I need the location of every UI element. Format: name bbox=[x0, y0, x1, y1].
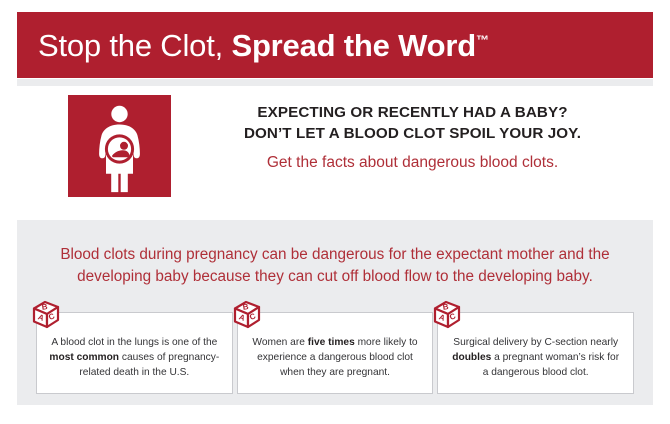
trademark-symbol: ™ bbox=[476, 32, 489, 47]
fact-text: Surgical delivery by C-section nearly do… bbox=[448, 335, 623, 380]
fact-text-pre: A blood clot in the lungs is one of the bbox=[51, 337, 217, 348]
facts-panel: Blood clots during pregnancy can be dang… bbox=[17, 220, 653, 405]
fact-box: B A C Surgical delivery by C-section nea… bbox=[437, 312, 634, 394]
headline: EXPECTING OR RECENTLY HAD A BABY? DON’T … bbox=[185, 103, 640, 144]
panel-lead-line-2: developing baby because they can cut off… bbox=[77, 268, 593, 285]
fact-text: Women are five times more likely to expe… bbox=[248, 335, 423, 380]
pregnant-woman-icon bbox=[68, 95, 171, 197]
fact-text-emphasis: most common bbox=[49, 352, 119, 363]
intro-section: EXPECTING OR RECENTLY HAD A BABY? DON’T … bbox=[0, 95, 670, 205]
abc-baby-block-icon: B A C bbox=[430, 299, 464, 331]
fact-text-pre: Women are bbox=[252, 337, 307, 348]
fact-text-post: a pregnant woman’s risk for a dangerous … bbox=[483, 352, 619, 378]
banner-title: Stop the Clot, Spread the Word™ bbox=[38, 30, 489, 61]
banner-title-bold: Spread the Word bbox=[231, 28, 475, 63]
panel-lead-line-1: Blood clots during pregnancy can be dang… bbox=[60, 246, 609, 263]
headline-line-1: EXPECTING OR RECENTLY HAD A BABY? bbox=[185, 103, 640, 124]
fact-box: B A C A blood clot in the lungs is one o… bbox=[36, 312, 233, 394]
fact-text-emphasis: five times bbox=[308, 337, 355, 348]
headline-line-2: DON’T LET A BLOOD CLOT SPOIL YOUR JOY. bbox=[185, 124, 640, 145]
banner-title-light: Stop the Clot, bbox=[38, 28, 223, 63]
abc-baby-block-icon: B A C bbox=[29, 299, 63, 331]
fact-box: B A C Women are five times more likely t… bbox=[237, 312, 434, 394]
abc-baby-block-icon: B A C bbox=[230, 299, 264, 331]
fact-text-emphasis: doubles bbox=[452, 352, 491, 363]
banner-underline-strip bbox=[17, 79, 653, 86]
infographic-page: Stop the Clot, Spread the Word™ bbox=[0, 0, 670, 424]
fact-text: A blood clot in the lungs is one of the … bbox=[47, 335, 222, 380]
header-banner: Stop the Clot, Spread the Word™ bbox=[17, 12, 653, 78]
intro-text-block: EXPECTING OR RECENTLY HAD A BABY? DON’T … bbox=[185, 103, 640, 173]
fact-box-list: B A C A blood clot in the lungs is one o… bbox=[36, 312, 634, 394]
panel-lead-text: Blood clots during pregnancy can be dang… bbox=[39, 244, 631, 287]
subheadline: Get the facts about dangerous blood clot… bbox=[185, 153, 640, 173]
fact-text-pre: Surgical delivery by C-section nearly bbox=[453, 337, 618, 348]
